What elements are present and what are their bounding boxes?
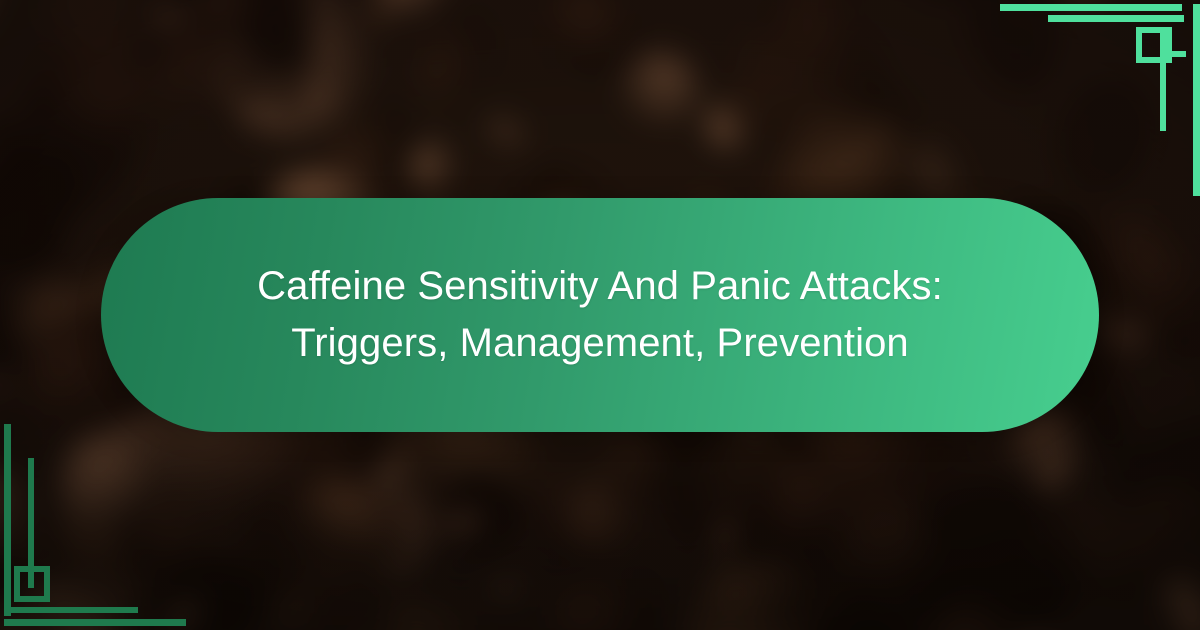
title-card: Caffeine Sensitivity And Panic Attacks: … [101,198,1099,432]
coffee-bean-shape [0,0,24,54]
coffee-bean-highlight [481,570,533,609]
page-title: Caffeine Sensitivity And Panic Attacks: … [101,258,1099,372]
deco-tr-drop-line [1160,27,1166,131]
deco-tr-square [1136,27,1172,63]
share-card-canvas: Caffeine Sensitivity And Panic Attacks: … [0,0,1200,630]
coffee-bean-shape [530,553,673,630]
deco-bl-outer-vertical [4,424,11,616]
coffee-bean-shape [402,2,505,122]
corner-bracket-top-right-icon [1000,0,1200,200]
deco-tr-bar-upper [1000,4,1182,11]
deco-bl-outer-horizontal [4,619,186,626]
deco-bl-square [14,566,50,602]
deco-tr-bar-lower [1048,15,1184,22]
deco-tr-edge-line [1193,4,1200,196]
deco-bl-inner-horizontal [4,607,138,613]
page-title-line-2: Triggers, Management, Prevention [171,315,1029,372]
coffee-bean-highlight [477,106,534,156]
page-title-line-1: Caffeine Sensitivity And Panic Attacks: [171,258,1029,315]
corner-bracket-bottom-left-icon [0,410,220,630]
deco-tr-stub [1160,51,1186,57]
